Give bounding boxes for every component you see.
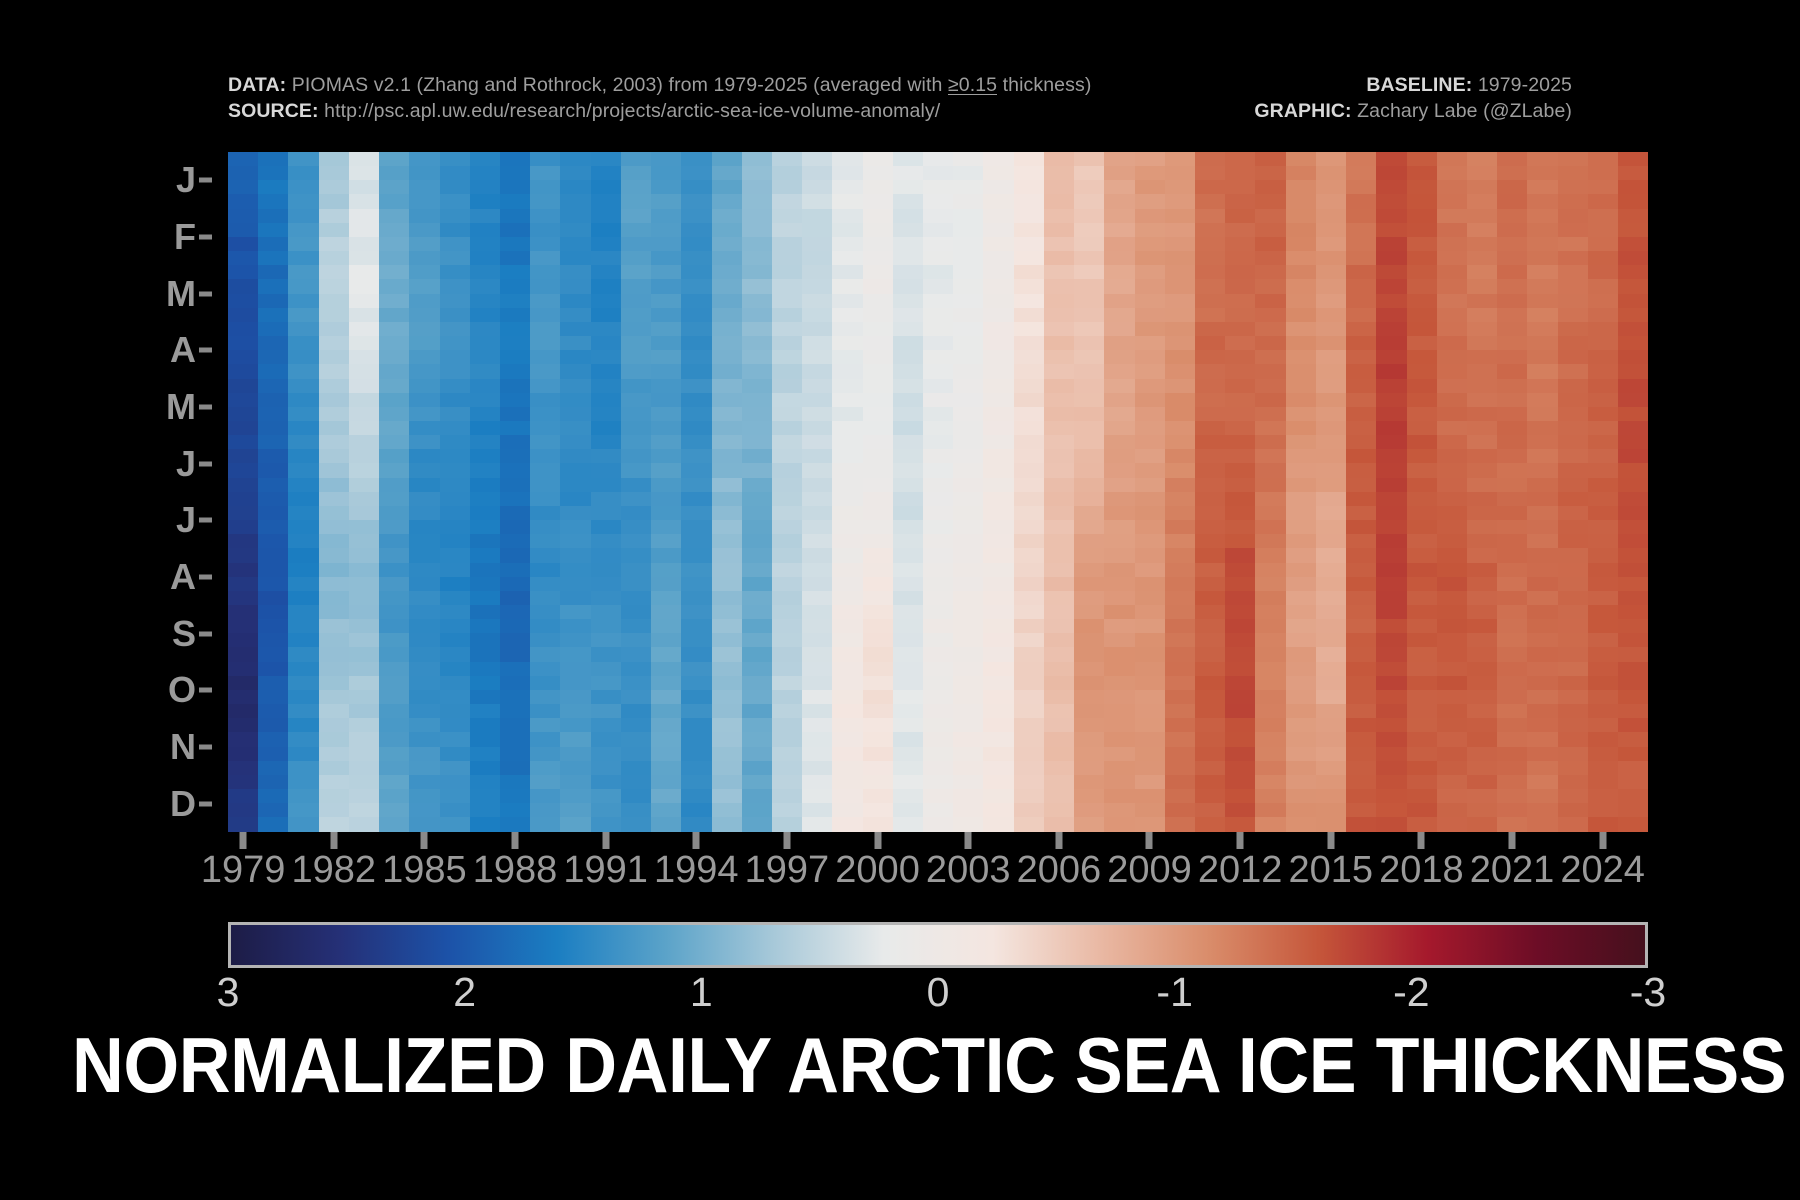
heatmap-cell	[1044, 803, 1074, 817]
heatmap-cell	[1618, 563, 1648, 577]
heatmap-cell	[681, 336, 711, 350]
heatmap-cell	[258, 704, 288, 718]
heatmap-cell	[319, 676, 349, 690]
heatmap-cell	[1014, 605, 1044, 619]
heatmap-cell	[470, 534, 500, 548]
heatmap-cell	[1527, 690, 1557, 704]
heatmap-cell	[440, 690, 470, 704]
heatmap-cell	[1346, 421, 1376, 435]
heatmap-cell	[1588, 704, 1618, 718]
heatmap-cell	[409, 534, 439, 548]
heatmap-cell	[1437, 322, 1467, 336]
heatmap-cell	[440, 747, 470, 761]
heatmap-cell	[560, 279, 590, 293]
heatmap-cell	[772, 166, 802, 180]
heatmap-cell	[1407, 194, 1437, 208]
heatmap-cell	[772, 180, 802, 194]
heatmap-cell	[288, 180, 318, 194]
heatmap-cell	[893, 662, 923, 676]
x-tick-label-2009: 2009	[1107, 850, 1192, 892]
heatmap-cell	[440, 180, 470, 194]
heatmap-cell	[1558, 548, 1588, 562]
heatmap-cell	[1195, 180, 1225, 194]
heatmap-cell	[560, 251, 590, 265]
heatmap-cell	[742, 265, 772, 279]
heatmap-cell	[228, 690, 258, 704]
heatmap-cell	[530, 209, 560, 223]
heatmap-cell	[500, 166, 530, 180]
heatmap-cell	[379, 647, 409, 661]
x-tick-label-2003: 2003	[926, 850, 1011, 892]
heatmap-cell	[1437, 492, 1467, 506]
heatmap-cell	[1014, 223, 1044, 237]
heatmap-cell	[379, 194, 409, 208]
heatmap-cell	[923, 463, 953, 477]
heatmap-cell	[651, 548, 681, 562]
heatmap-cell	[953, 605, 983, 619]
heatmap-cell	[1195, 421, 1225, 435]
heatmap-cell	[1618, 180, 1648, 194]
heatmap-cell	[832, 520, 862, 534]
heatmap-cell	[1527, 591, 1557, 605]
heatmap-cell	[1165, 676, 1195, 690]
heatmap-cell	[802, 393, 832, 407]
heatmap-cell	[560, 662, 590, 676]
heatmap-cell	[742, 676, 772, 690]
heatmap-cell	[1376, 605, 1406, 619]
colorbar-tick-0: 0	[927, 972, 950, 1013]
heatmap-cell	[560, 308, 590, 322]
heatmap-cell	[1407, 605, 1437, 619]
heatmap-cell	[923, 605, 953, 619]
heatmap-cell	[953, 421, 983, 435]
heatmap-cell	[1195, 704, 1225, 718]
heatmap-cell	[651, 166, 681, 180]
heatmap-cell	[712, 633, 742, 647]
heatmap-cell	[1165, 379, 1195, 393]
heatmap-cell	[1558, 350, 1588, 364]
heatmap-cell	[1527, 492, 1557, 506]
heatmap-cell	[1135, 690, 1165, 704]
heatmap-cell	[1407, 237, 1437, 251]
heatmap-cell	[500, 506, 530, 520]
heatmap-cell	[1618, 463, 1648, 477]
heatmap-cell	[470, 463, 500, 477]
heatmap-cell	[1407, 350, 1437, 364]
heatmap-cell	[832, 577, 862, 591]
heatmap-cell	[1286, 548, 1316, 562]
heatmap-cell	[923, 676, 953, 690]
heatmap-cell	[832, 223, 862, 237]
heatmap-cell	[258, 294, 288, 308]
heatmap-cell	[1165, 322, 1195, 336]
heatmap-cell	[1376, 279, 1406, 293]
heatmap-cell	[379, 605, 409, 619]
heatmap-cell	[1346, 591, 1376, 605]
heatmap-cell	[1074, 279, 1104, 293]
heatmap-cell	[712, 350, 742, 364]
heatmap-cell	[258, 577, 288, 591]
heatmap-cell	[1135, 647, 1165, 661]
heatmap-cell	[1135, 775, 1165, 789]
heatmap-cell	[1316, 421, 1346, 435]
heatmap-cell	[651, 350, 681, 364]
heatmap-cell	[681, 435, 711, 449]
heatmap-cell	[319, 520, 349, 534]
heatmap-cell	[893, 421, 923, 435]
heatmap-cell	[1286, 605, 1316, 619]
heatmap-cell	[288, 449, 318, 463]
x-tick-label-2015: 2015	[1288, 850, 1373, 892]
heatmap-cell	[1225, 449, 1255, 463]
heatmap-cell	[1014, 364, 1044, 378]
heatmap-cell	[1588, 407, 1618, 421]
heatmap-cell	[440, 152, 470, 166]
heatmap-cell	[832, 393, 862, 407]
heatmap-cell	[349, 308, 379, 322]
heatmap-cell	[440, 633, 470, 647]
heatmap-cell	[470, 435, 500, 449]
heatmap-cell	[863, 520, 893, 534]
heatmap-cell	[379, 563, 409, 577]
heatmap-cell	[591, 364, 621, 378]
heatmap-cell	[832, 563, 862, 577]
heatmap-cell	[1346, 393, 1376, 407]
heatmap-cell	[1316, 605, 1346, 619]
heatmap-cell	[1044, 336, 1074, 350]
heatmap-cell	[802, 676, 832, 690]
heatmap-cell	[1225, 676, 1255, 690]
heatmap-cell	[863, 761, 893, 775]
heatmap-cell	[440, 393, 470, 407]
heatmap-cell	[1225, 435, 1255, 449]
heatmap-cell	[1195, 194, 1225, 208]
heatmap-cell	[621, 591, 651, 605]
heatmap-cell	[681, 294, 711, 308]
heatmap-cell	[409, 690, 439, 704]
heatmap-cell	[621, 393, 651, 407]
data-credit-text-b: thickness)	[997, 74, 1091, 96]
heatmap-cell	[500, 761, 530, 775]
heatmap-cell	[832, 435, 862, 449]
heatmap-cell	[1407, 478, 1437, 492]
heatmap-cell	[1286, 379, 1316, 393]
heatmap-year-column	[742, 152, 772, 832]
heatmap-cell	[681, 775, 711, 789]
heatmap-cell	[1255, 393, 1285, 407]
heatmap-cell	[591, 350, 621, 364]
heatmap-cell	[1588, 322, 1618, 336]
heatmap-cell	[681, 803, 711, 817]
heatmap-cell	[591, 690, 621, 704]
heatmap-cell	[1437, 478, 1467, 492]
heatmap-cell	[1225, 619, 1255, 633]
heatmap-cell	[470, 520, 500, 534]
heatmap-cell	[349, 662, 379, 676]
heatmap-cell	[1467, 237, 1497, 251]
heatmap-cell	[863, 803, 893, 817]
heatmap-cell	[1104, 421, 1134, 435]
heatmap-cell	[983, 265, 1013, 279]
heatmap-cell	[1255, 294, 1285, 308]
heatmap-cell	[1255, 449, 1285, 463]
heatmap-cell	[1588, 265, 1618, 279]
heatmap-cell	[1044, 789, 1074, 803]
heatmap-cell	[1558, 520, 1588, 534]
heatmap-cell	[379, 789, 409, 803]
heatmap-cell	[1497, 647, 1527, 661]
heatmap-cell	[258, 492, 288, 506]
heatmap-cell	[1104, 492, 1134, 506]
heatmap-cell	[1195, 591, 1225, 605]
heatmap-cell	[591, 393, 621, 407]
heatmap-cell	[621, 379, 651, 393]
heatmap-cell	[923, 747, 953, 761]
heatmap-cell	[1527, 803, 1557, 817]
heatmap-cell	[258, 747, 288, 761]
heatmap-cell	[1135, 563, 1165, 577]
heatmap-cell	[288, 548, 318, 562]
heatmap-cell	[560, 463, 590, 477]
heatmap-cell	[288, 463, 318, 477]
heatmap-cell	[560, 506, 590, 520]
heatmap-cell	[681, 732, 711, 746]
heatmap-cell	[379, 463, 409, 477]
heatmap-cell	[681, 393, 711, 407]
heatmap-cell	[500, 789, 530, 803]
heatmap-cell	[621, 761, 651, 775]
heatmap-cell	[1165, 209, 1195, 223]
heatmap-year-column	[832, 152, 862, 832]
heatmap-cell	[409, 265, 439, 279]
heatmap-cell	[349, 775, 379, 789]
heatmap-cell	[258, 789, 288, 803]
heatmap-cell	[591, 463, 621, 477]
heatmap-cell	[772, 407, 802, 421]
heatmap-cell	[1618, 421, 1648, 435]
heatmap-cell	[983, 506, 1013, 520]
heatmap-cell	[1195, 577, 1225, 591]
heatmap-cell	[742, 534, 772, 548]
heatmap-cell	[1074, 435, 1104, 449]
heatmap-cell	[1376, 492, 1406, 506]
heatmap-cell	[1407, 251, 1437, 265]
heatmap-cell	[1376, 577, 1406, 591]
heatmap-cell	[409, 761, 439, 775]
heatmap-cell	[742, 294, 772, 308]
heatmap-cell	[1165, 789, 1195, 803]
source-credit-url[interactable]: http://psc.apl.uw.edu/research/projects/…	[324, 100, 940, 122]
heatmap-cell	[1346, 577, 1376, 591]
heatmap-cell	[742, 166, 772, 180]
heatmap-cell	[1255, 350, 1285, 364]
heatmap-cell	[1255, 761, 1285, 775]
heatmap-cell	[863, 647, 893, 661]
heatmap-cell	[591, 817, 621, 831]
heatmap-cell	[1346, 435, 1376, 449]
heatmap-cell	[1255, 478, 1285, 492]
heatmap-cell	[893, 166, 923, 180]
heatmap-cell	[923, 336, 953, 350]
heatmap-cell	[379, 180, 409, 194]
heatmap-cell	[1316, 265, 1346, 279]
heatmap-cell	[1074, 747, 1104, 761]
heatmap-cell	[1195, 478, 1225, 492]
heatmap-cell	[288, 350, 318, 364]
heatmap-cell	[651, 704, 681, 718]
heatmap-cell	[1014, 478, 1044, 492]
heatmap-cell	[621, 520, 651, 534]
heatmap-cell	[1044, 251, 1074, 265]
heatmap-cell	[500, 605, 530, 619]
heatmap-cell	[470, 478, 500, 492]
heatmap-cell	[1346, 619, 1376, 633]
heatmap-cell	[893, 251, 923, 265]
heatmap-cell	[953, 449, 983, 463]
heatmap-cell	[591, 676, 621, 690]
heatmap-cell	[1135, 577, 1165, 591]
heatmap-cell	[1044, 223, 1074, 237]
heatmap-cell	[1316, 619, 1346, 633]
heatmap-cell	[409, 350, 439, 364]
heatmap-cell	[1104, 251, 1134, 265]
heatmap-cell	[379, 704, 409, 718]
heatmap-cell	[319, 308, 349, 322]
heatmap-cell	[953, 803, 983, 817]
heatmap-cell	[1255, 237, 1285, 251]
heatmap-cell	[1104, 463, 1134, 477]
y-tick-label-1: F	[174, 219, 196, 255]
heatmap-cell	[651, 308, 681, 322]
heatmap-cell	[1014, 761, 1044, 775]
heatmap-cell	[1316, 647, 1346, 661]
heatmap-cell	[1497, 704, 1527, 718]
heatmap-cell	[1165, 265, 1195, 279]
heatmap-cell	[470, 308, 500, 322]
heatmap-year-column	[1497, 152, 1527, 832]
heatmap-cell	[1467, 534, 1497, 548]
heatmap-cell	[560, 619, 590, 633]
heatmap-cell	[863, 747, 893, 761]
heatmap-cell	[1225, 732, 1255, 746]
heatmap-cell	[1044, 704, 1074, 718]
heatmap-cell	[1588, 364, 1618, 378]
heatmap-cell	[349, 747, 379, 761]
heatmap-cell	[621, 308, 651, 322]
heatmap-cell	[1165, 463, 1195, 477]
heatmap-cell	[651, 647, 681, 661]
heatmap-cell	[1225, 251, 1255, 265]
heatmap-cell	[319, 577, 349, 591]
heatmap-cell	[742, 322, 772, 336]
heatmap-cell	[983, 577, 1013, 591]
heatmap-cell	[288, 237, 318, 251]
heatmap-cell	[1165, 577, 1195, 591]
heatmap-cell	[1014, 322, 1044, 336]
heatmap-cell	[983, 308, 1013, 322]
heatmap-cell	[560, 548, 590, 562]
heatmap-cell	[953, 591, 983, 605]
heatmap-cell	[1346, 548, 1376, 562]
heatmap-cell	[742, 732, 772, 746]
heatmap-cell	[1165, 194, 1195, 208]
heatmap-cell	[983, 180, 1013, 194]
heatmap-cell	[772, 633, 802, 647]
heatmap-cell	[621, 548, 651, 562]
heatmap-cell	[1316, 237, 1346, 251]
heatmap-cell	[802, 336, 832, 350]
heatmap-cell	[1588, 237, 1618, 251]
heatmap-cell	[288, 789, 318, 803]
heatmap-cell	[1467, 265, 1497, 279]
heatmap-cell	[681, 506, 711, 520]
heatmap-cell	[1407, 662, 1437, 676]
heatmap-cell	[802, 817, 832, 831]
heatmap-cell	[1316, 435, 1346, 449]
heatmap-cell	[712, 322, 742, 336]
heatmap-cell	[1497, 294, 1527, 308]
heatmap-cell	[591, 237, 621, 251]
heatmap-cell	[1286, 209, 1316, 223]
heatmap-cell	[1588, 223, 1618, 237]
heatmap-cell	[1558, 336, 1588, 350]
heatmap-cell	[1497, 817, 1527, 831]
heatmap-cell	[258, 152, 288, 166]
heatmap-year-column	[319, 152, 349, 832]
heatmap-cell	[863, 166, 893, 180]
heatmap-cell	[258, 520, 288, 534]
x-tick-mark-1994	[693, 832, 700, 849]
heatmap-cell	[319, 265, 349, 279]
heatmap-cell	[1497, 364, 1527, 378]
heatmap-cell	[802, 209, 832, 223]
heatmap-cell	[1195, 492, 1225, 506]
heatmap-cell	[1376, 449, 1406, 463]
heatmap-cell	[288, 152, 318, 166]
heatmap-cell	[1225, 718, 1255, 732]
heatmap-cell	[772, 449, 802, 463]
heatmap-cell	[1255, 421, 1285, 435]
heatmap-cell	[772, 322, 802, 336]
heatmap-cell	[1255, 817, 1285, 831]
heatmap-cell	[1225, 223, 1255, 237]
heatmap-cell	[1618, 379, 1648, 393]
heatmap-cell	[1618, 152, 1648, 166]
heatmap-cell	[621, 279, 651, 293]
heatmap-cell	[863, 449, 893, 463]
heatmap-cell	[742, 761, 772, 775]
heatmap-cell	[319, 449, 349, 463]
heatmap-cell	[802, 166, 832, 180]
heatmap-cell	[893, 449, 923, 463]
heatmap-cell	[832, 817, 862, 831]
heatmap-cell	[772, 775, 802, 789]
heatmap-cell	[1255, 591, 1285, 605]
heatmap-cell	[953, 520, 983, 534]
heatmap-cell	[1527, 775, 1557, 789]
heatmap-cell	[923, 194, 953, 208]
heatmap-cell	[228, 718, 258, 732]
heatmap-cell	[863, 265, 893, 279]
heatmap-cell	[1225, 350, 1255, 364]
heatmap-cell	[1527, 435, 1557, 449]
heatmap-cell	[1376, 633, 1406, 647]
heatmap-cell	[349, 690, 379, 704]
heatmap-cell	[1467, 322, 1497, 336]
heatmap-cell	[1497, 619, 1527, 633]
heatmap-cell	[1437, 152, 1467, 166]
heatmap-cell	[1618, 237, 1648, 251]
